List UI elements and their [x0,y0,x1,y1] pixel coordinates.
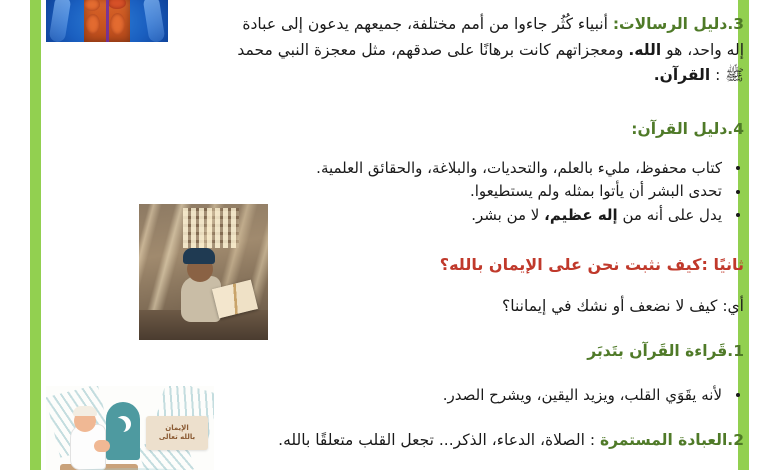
list-item: يدل على أنه من إله عظيم، لا من بشر. [316,204,744,227]
anatomy-organ [86,14,100,34]
document-page: الإيمان بالله تعالى 3.دليل الرسالات: أنب… [0,0,780,470]
bullet-text: لا من بشر. [471,206,539,224]
bullet-text: تحدى البشر أن يأتوا بمثله ولم يستطيعوا. [470,182,722,200]
proof-of-quran-heading: 4.دليل القرآن: [631,117,744,143]
left-green-rail [30,0,41,470]
anatomy-arm-right [143,0,166,42]
proof-of-quran-bullets: كتاب محفوظ، مليء بالعلم، والتحديات، والب… [316,157,744,227]
anatomy-spine [106,0,109,42]
point-1-heading-label: 1.قَراءة القَرآن بتَدبَر [587,342,744,360]
proof-of-quran-heading-label: 4.دليل القرآن: [631,120,744,138]
point-2-text: : الصلاة، الدعاء، الذكر... تجعل القلب مت… [278,431,600,449]
point-2-line: 2.العبادة المستمرة : الصلاة، الدعاء، الذ… [278,428,744,454]
proof-of-messages-line2a: إله واحد، هو [666,41,744,59]
praying-boy-hands [94,440,110,452]
human-body-anatomy-photo [46,0,168,42]
boy-cap [183,248,215,264]
list-item: كتاب محفوظ، مليء بالعلم، والتحديات، والب… [316,157,744,180]
second-section-explanation-label: أي: كيف لا نضعف أو نشك في إيماننا؟ [502,297,744,315]
proof-of-messages-colon: : [715,66,720,84]
bullet-text: لأنه يقَوَي القلب، ويزيد اليقين، ويشرح ا… [443,386,722,404]
point-1-heading: 1.قَراءة القَرآن بتَدبَر [587,339,744,365]
bullet-text: كتاب محفوظ، مليء بالعلم، والتحديات، والب… [316,159,722,177]
faith-banner-line2: بالله تعالى [159,433,195,441]
quran-word: القرآن. [654,66,710,84]
bullet-text-bold: إله عظيم، [544,206,618,224]
lafz-aljalalah: الله. [628,41,661,59]
proof-of-messages-line2c: ومعجزاتهم كانت برهانًا على صدقهم، مثل مع… [237,41,623,59]
list-item: لأنه يقَوَي القلب، ويزيد اليقين، ويشرح ا… [443,384,744,407]
salawat-symbol: ﷺ [725,66,744,84]
boy-praying-illustration: الإيمان بالله تعالى [46,386,214,470]
second-section-explanation: أي: كيف لا نضعف أو نشك في إيماننا؟ [502,294,744,320]
anatomy-organ [110,13,125,35]
proof-of-messages-paragraph: 3.دليل الرسالات: أنبياء كُثُر جاءوا من أ… [224,12,744,89]
second-section-heading: ثانيًا :كيف نثبت نحن على الإيمان بالله؟ [440,252,744,278]
boy-reading-quran-photo [139,204,268,340]
point-1-bullets: لأنه يقَوَي القلب، ويزيد اليقين، ويشرح ا… [443,384,744,407]
faith-banner: الإيمان بالله تعالى [146,416,208,450]
mosque-icon [106,402,140,460]
faith-banner-line1: الإيمان [165,424,189,432]
proof-of-messages-heading: 3.دليل الرسالات: [613,15,744,33]
second-section-heading-label: ثانيًا :كيف نثبت نحن على الإيمان بالله؟ [440,255,744,274]
point-2-heading: 2.العبادة المستمرة [600,431,744,449]
proof-of-messages-line1: أنبياء كُثُر جاءوا من أمم مختلفة، جميعهم… [242,15,607,33]
list-item: تحدى البشر أن يأتوا بمثله ولم يستطيعوا. [316,180,744,203]
bullet-text: يدل على أنه من [622,206,722,224]
praying-boy-cap [73,406,97,416]
anatomy-arm-left [49,0,72,42]
